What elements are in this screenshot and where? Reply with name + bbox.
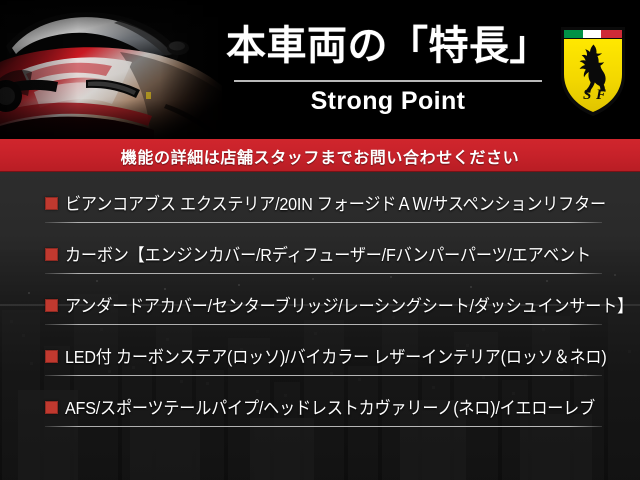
list-item-label: AFS/スポーツテールパイプ/ヘッドレストカヴァリーノ(ネロ)/イエローレブ [65,397,595,419]
svg-text:S: S [583,87,591,103]
page-title-jp: 本車両の「特長」 [226,18,550,74]
bullet-marker-icon [45,299,58,312]
feature-list: ビアンコアブス エクステリア/20IN フォージドＡＷ/サスペンションリフター … [0,172,640,480]
list-divider [45,222,602,223]
header-section: 本車両の「特長」 Strong Point [0,0,640,139]
notice-banner: 機能の詳細は店舗スタッフまでお問い合わせください [0,139,640,172]
list-divider [45,375,602,376]
svg-text:F: F [595,87,606,103]
bullet-marker-icon [45,350,58,363]
list-divider [45,324,602,325]
list-item-label: LED付 カーボンステア(ロッソ)/バイカラー レザーインテリア(ロッソ＆ネロ) [65,346,607,368]
list-item-label: ビアンコアブス エクステリア/20IN フォージドＡＷ/サスペンションリフター [65,193,606,215]
title-divider [234,80,542,82]
bullet-marker-icon [45,197,58,210]
list-item-label: アンダードアカバー/センターブリッジ/レーシングシート/ダッシュインサート】 [65,295,633,317]
title-block: 本車両の「特長」 Strong Point [228,8,548,130]
strong-point-slide: 本車両の「特長」 Strong Point [0,0,640,480]
feature-list-section: ビアンコアブス エクステリア/20IN フォージドＡＷ/サスペンションリフター … [0,172,640,480]
bullet-marker-icon [45,248,58,261]
ferrari-shield-icon: S F [557,23,629,119]
notice-banner-text: 機能の詳細は店舗スタッフまでお問い合わせください [121,144,519,168]
page-title-en: Strong Point [311,84,466,118]
list-divider [45,273,602,274]
list-divider [45,426,602,427]
bullet-marker-icon [45,401,58,414]
list-item-label: カーボン【エンジンカバー/Rディフューザー/Fバンパーパーツ/エアベント [65,244,591,266]
ferrari-sf90-car-photo [0,0,222,139]
